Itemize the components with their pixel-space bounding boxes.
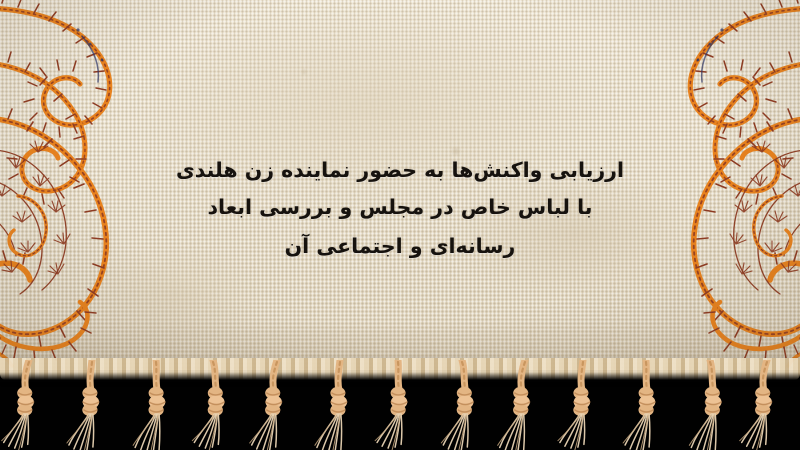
tassel [434,360,490,450]
tassel [497,360,553,450]
tassel [249,360,305,450]
tassel [64,360,120,450]
banner-image: ارزیابی واکنش‌ها به حضور نماینده زن هلند… [0,0,800,450]
caption-line-1: ارزیابی واکنش‌ها به حضور نماینده زن هلند… [150,152,650,189]
tassel [618,360,674,450]
caption-line-2: با لباس خاص در مجلس و بررسی ابعاد [150,189,650,226]
tassel [1,360,57,450]
knotted-tassel-fringe [0,360,800,450]
tassel [682,360,738,450]
tassel [185,360,241,450]
caption-text-block: ارزیابی واکنش‌ها به حضور نماینده زن هلند… [150,152,650,265]
tassel [128,360,184,450]
tassel [555,360,611,450]
tassel [739,360,795,450]
caption-line-3: رسانه‌ای و اجتماعی آن [150,228,650,265]
tassel [370,360,426,450]
tassel [312,360,368,450]
